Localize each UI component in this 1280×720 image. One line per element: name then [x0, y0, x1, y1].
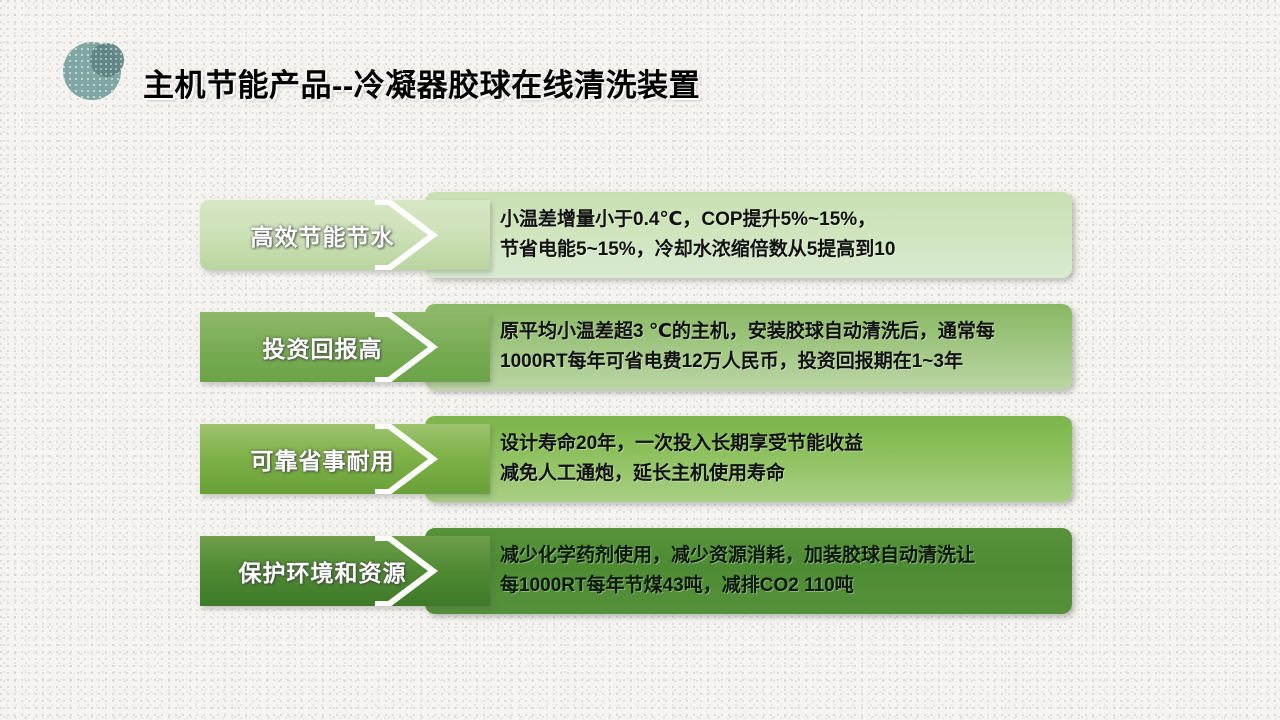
- feature-label-bar[interactable]: 保护环境和资源: [200, 536, 490, 606]
- page-title: 主机节能产品--冷凝器胶球在线清洗装置: [143, 60, 700, 105]
- feature-body-panel: 小温差增量小于0.4℃，COP提升5%~15%， 节省电能5~15%，冷却水浓缩…: [425, 192, 1072, 278]
- feature-row: 减少化学药剂使用，减少资源消耗，加装胶球自动清洗让 每1000RT每年节煤43吨…: [0, 528, 1280, 614]
- feature-label-text: 保护环境和资源: [200, 554, 445, 588]
- feature-body-text: 小温差增量小于0.4℃，COP提升5%~15%， 节省电能5~15%，冷却水浓缩…: [500, 205, 895, 265]
- feature-body-text: 原平均小温差超3 ℃的主机，安装胶球自动清洗后，通常每 1000RT每年可省电费…: [500, 317, 995, 377]
- feature-row: 原平均小温差超3 ℃的主机，安装胶球自动清洗后，通常每 1000RT每年可省电费…: [0, 304, 1280, 390]
- slide-header: 主机节能产品--冷凝器胶球在线清洗装置: [0, 0, 1280, 140]
- feature-body-panel: 设计寿命20年，一次投入长期享受节能收益 减免人工通炮，延长主机使用寿命: [425, 416, 1072, 502]
- feature-body-text: 减少化学药剂使用，减少资源消耗，加装胶球自动清洗让 每1000RT每年节煤43吨…: [500, 541, 975, 601]
- feature-label-bar[interactable]: 投资回报高: [200, 312, 490, 382]
- feature-label-bar[interactable]: 可靠省事耐用: [200, 424, 490, 494]
- decorative-circles: [63, 42, 143, 104]
- feature-row: 小温差增量小于0.4℃，COP提升5%~15%， 节省电能5~15%，冷却水浓缩…: [0, 192, 1280, 278]
- feature-label-bar[interactable]: 高效节能节水: [200, 200, 490, 270]
- feature-label-text: 投资回报高: [200, 330, 445, 364]
- feature-body-panel: 减少化学药剂使用，减少资源消耗，加装胶球自动清洗让 每1000RT每年节煤43吨…: [425, 528, 1072, 614]
- circle-small-icon: [90, 43, 124, 77]
- feature-label-text: 高效节能节水: [200, 218, 445, 252]
- feature-label-text: 可靠省事耐用: [200, 442, 445, 476]
- feature-body-text: 设计寿命20年，一次投入长期享受节能收益 减免人工通炮，延长主机使用寿命: [500, 429, 863, 489]
- feature-row: 设计寿命20年，一次投入长期享受节能收益 减免人工通炮，延长主机使用寿命 可靠省…: [0, 416, 1280, 502]
- feature-body-panel: 原平均小温差超3 ℃的主机，安装胶球自动清洗后，通常每 1000RT每年可省电费…: [425, 304, 1072, 390]
- slide-canvas: 主机节能产品--冷凝器胶球在线清洗装置 小温差增量小于0.4℃，COP提升5%~…: [0, 0, 1280, 720]
